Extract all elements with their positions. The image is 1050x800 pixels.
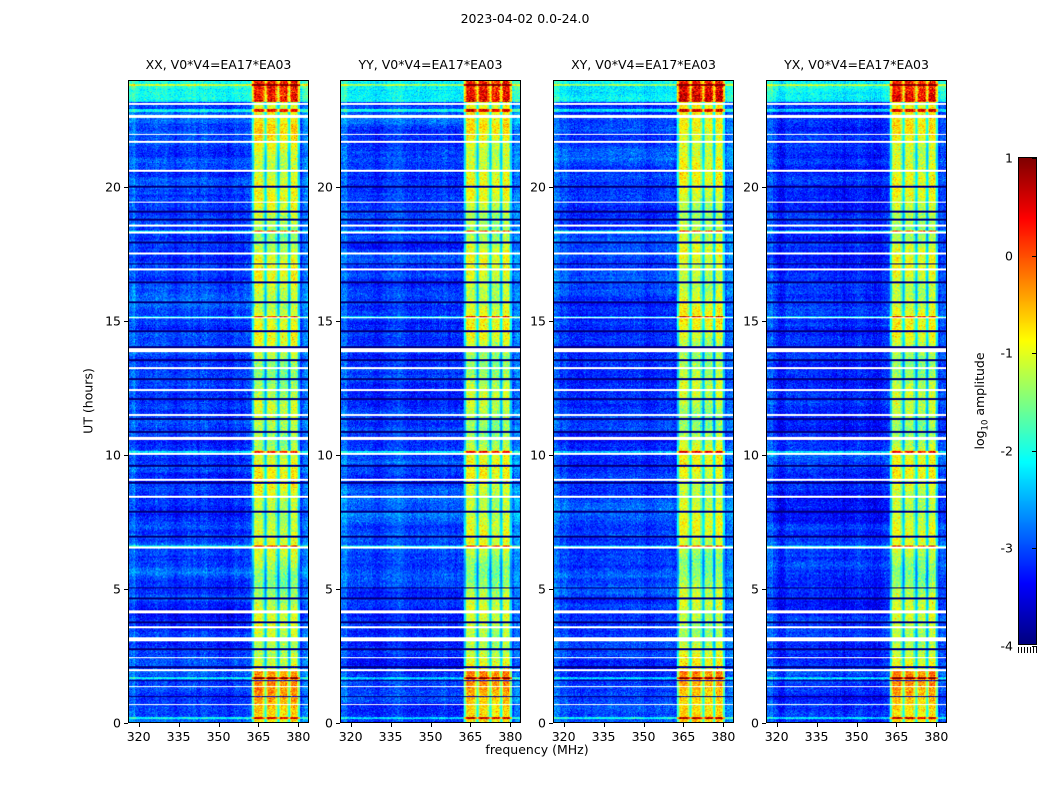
x-tick-label: 365 <box>246 729 270 744</box>
x-tick-mark <box>351 723 352 727</box>
x-tick-mark <box>391 723 392 727</box>
y-axis-label: UT (hours) <box>81 368 96 434</box>
x-tick-label: 335 <box>592 729 616 744</box>
colorbar-tick-mark <box>1032 256 1037 257</box>
y-tick-mark <box>336 321 340 322</box>
y-tick-label: 5 <box>113 582 121 597</box>
x-tick-mark <box>139 723 140 727</box>
y-tick-mark <box>549 321 553 322</box>
x-tick-mark <box>431 723 432 727</box>
y-tick-label: 10 <box>317 448 333 463</box>
x-tick-mark <box>723 723 724 727</box>
y-tick-label: 20 <box>105 180 121 195</box>
x-tick-mark <box>564 723 565 727</box>
x-tick-mark <box>258 723 259 727</box>
waterfall-image-xx <box>129 81 308 722</box>
x-tick-mark <box>683 723 684 727</box>
x-tick-label: 350 <box>632 729 656 744</box>
y-tick-mark <box>124 723 128 724</box>
y-tick-label: 20 <box>317 180 333 195</box>
colorbar-tick-mark <box>1032 548 1037 549</box>
x-ticks-xy: 320335350365380 <box>553 723 734 753</box>
y-tick-mark <box>124 589 128 590</box>
x-tick-label: 350 <box>845 729 869 744</box>
colorbar-tick-mark <box>1032 353 1037 354</box>
x-tick-mark <box>298 723 299 727</box>
x-tick-mark <box>604 723 605 727</box>
y-tick-label: 10 <box>743 448 759 463</box>
x-tick-label: 350 <box>207 729 231 744</box>
x-tick-label: 380 <box>924 729 948 744</box>
y-tick-label: 10 <box>530 448 546 463</box>
waterfall-image-yy <box>341 81 520 722</box>
x-tick-mark <box>179 723 180 727</box>
x-tick-mark <box>470 723 471 727</box>
y-tick-label: 5 <box>325 582 333 597</box>
x-tick-mark <box>896 723 897 727</box>
y-tick-mark <box>762 187 766 188</box>
colorbar-label: log10 amplitude <box>972 352 991 449</box>
colorbar-tick-mark <box>1032 646 1037 647</box>
y-tick-mark <box>549 455 553 456</box>
y-tick-label: 15 <box>105 314 121 329</box>
y-tick-mark <box>336 455 340 456</box>
waterfall-image-yx <box>767 81 946 722</box>
y-tick-label: 20 <box>530 180 546 195</box>
y-tick-label: 10 <box>105 448 121 463</box>
y-tick-mark <box>124 187 128 188</box>
y-tick-mark <box>549 187 553 188</box>
x-tick-mark <box>817 723 818 727</box>
y-tick-label: 5 <box>751 582 759 597</box>
y-tick-mark <box>762 589 766 590</box>
x-tick-label: 380 <box>711 729 735 744</box>
x-ticks-yy: 320335350365380 <box>340 723 521 753</box>
y-tick-label: 20 <box>743 180 759 195</box>
colorbar-tick-label: 0 <box>977 248 1013 263</box>
y-tick-label: 0 <box>113 716 121 731</box>
x-tick-label: 320 <box>552 729 576 744</box>
x-tick-mark <box>857 723 858 727</box>
colorbar-extend-min <box>1018 647 1037 653</box>
x-ticks-yx: 320335350365380 <box>766 723 947 753</box>
x-tick-mark <box>777 723 778 727</box>
y-tick-mark <box>549 589 553 590</box>
x-ticks-xx: 320335350365380 <box>128 723 309 753</box>
y-tick-label: 15 <box>530 314 546 329</box>
x-tick-mark <box>510 723 511 727</box>
colorbar-tick-label: -3 <box>977 541 1013 556</box>
waterfall-axes-xy[interactable] <box>553 80 734 723</box>
waterfall-axes-yx[interactable] <box>766 80 947 723</box>
x-tick-label: 335 <box>805 729 829 744</box>
colorbar: 10-1-2-3-4 <box>1018 157 1037 645</box>
colorbar-tick-mark <box>1032 158 1037 159</box>
colorbar-ticks: 10-1-2-3-4 <box>1019 158 1036 644</box>
y-tick-mark <box>762 723 766 724</box>
y-tick-mark <box>336 589 340 590</box>
y-tick-label: 15 <box>317 314 333 329</box>
x-tick-mark <box>644 723 645 727</box>
x-tick-label: 335 <box>379 729 403 744</box>
y-tick-label: 0 <box>751 716 759 731</box>
y-tick-label: 15 <box>743 314 759 329</box>
y-tick-label: 0 <box>538 716 546 731</box>
y-tick-label: 5 <box>538 582 546 597</box>
y-tick-mark <box>549 723 553 724</box>
y-tick-mark <box>762 455 766 456</box>
x-tick-label: 380 <box>286 729 310 744</box>
waterfall-axes-xx[interactable] <box>128 80 309 723</box>
colorbar-tick-label: -4 <box>977 639 1013 654</box>
x-tick-mark <box>936 723 937 727</box>
x-tick-label: 365 <box>884 729 908 744</box>
colorbar-tick-label: 1 <box>977 151 1013 166</box>
colorbar-tick-mark <box>1032 451 1037 452</box>
x-tick-label: 365 <box>671 729 695 744</box>
panel-title-yx: YX, V0*V4=EA17*EA03 <box>726 57 987 72</box>
panel-yy: YY, V0*V4=EA17*EA03320335350365380051015… <box>340 80 521 723</box>
figure-canvas: 2023-04-02 0.0-24.0 UT (hours) frequency… <box>0 0 1050 800</box>
x-tick-label: 350 <box>419 729 443 744</box>
waterfall-image-xy <box>554 81 733 722</box>
panel-yx: YX, V0*V4=EA17*EA03320335350365380051015… <box>766 80 947 723</box>
y-tick-mark <box>124 321 128 322</box>
y-tick-mark <box>336 187 340 188</box>
x-tick-label: 320 <box>765 729 789 744</box>
x-tick-label: 380 <box>498 729 522 744</box>
x-tick-mark <box>219 723 220 727</box>
x-tick-label: 335 <box>167 729 191 744</box>
y-tick-label: 0 <box>325 716 333 731</box>
figure-suptitle: 2023-04-02 0.0-24.0 <box>0 11 1050 26</box>
y-tick-mark <box>124 455 128 456</box>
panel-xy: XY, V0*V4=EA17*EA03320335350365380051015… <box>553 80 734 723</box>
x-tick-label: 320 <box>127 729 151 744</box>
x-tick-label: 365 <box>458 729 482 744</box>
waterfall-axes-yy[interactable] <box>340 80 521 723</box>
y-tick-mark <box>336 723 340 724</box>
y-tick-mark <box>762 321 766 322</box>
x-tick-label: 320 <box>339 729 363 744</box>
panel-xx: XX, V0*V4=EA17*EA03320335350365380051015… <box>128 80 309 723</box>
